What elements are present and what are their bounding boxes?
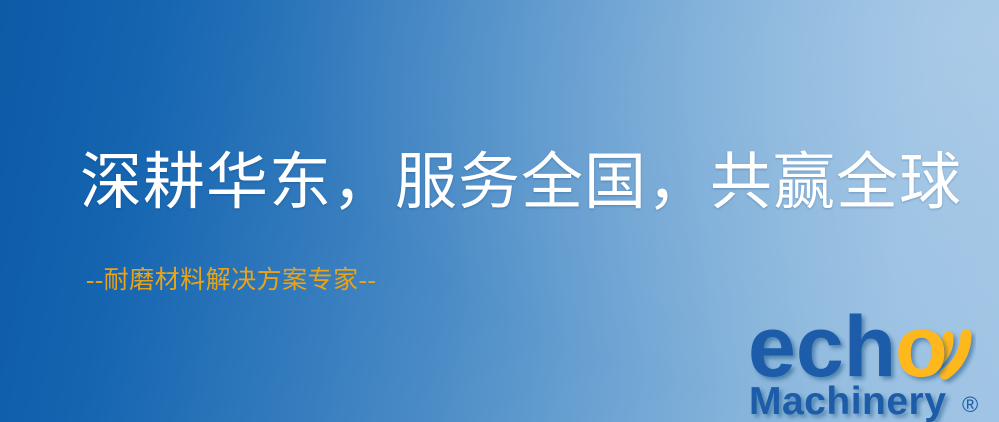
- promo-banner: 深耕华东，服务全国，共赢全球 --耐磨材料解决方案专家-- ech o Mach…: [0, 0, 999, 422]
- registered-trademark-symbol: ®: [962, 392, 978, 417]
- logo-subtext: Machinery: [749, 380, 946, 422]
- echo-machinery-logo: ech o Machinery ®: [748, 296, 998, 422]
- banner-headline: 深耕华东，服务全国，共赢全球: [80, 152, 962, 214]
- banner-subheadline: --耐磨材料解决方案专家--: [86, 268, 376, 293]
